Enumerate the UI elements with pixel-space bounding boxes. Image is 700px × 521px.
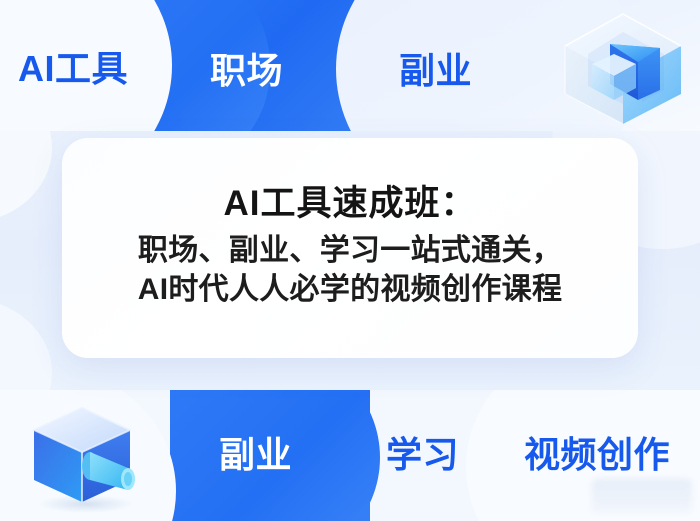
card-subtitle-line-2: AI时代人人必学的视频创作课程 [138,270,563,309]
card-subtitle-line-1: 职场、副业、学习一站式通关， [138,231,562,270]
mid-left-notch-top [0,131,52,223]
headline-card: AI工具速成班： 职场、副业、学习一站式通关， AI时代人人必学的视频创作课程 [62,138,638,358]
tag-study: 学习 [386,426,459,478]
glass-cube-icon [548,4,698,130]
blue-cube-plug-icon [20,394,148,516]
tag-side-hustle-bottom: 副业 [219,426,292,478]
card-title: AI工具速成班： [223,183,476,224]
poster-canvas: AI工具 职场 副业 副业 学习 视频创作 AI工具速成班： 职场、副业、学习一… [0,0,700,521]
tag-video-creation: 视频创作 [524,426,670,478]
mid-left-notch-bottom [0,298,52,390]
tag-workplace: 职场 [210,42,283,94]
tag-ai-tools: AI工具 [18,40,128,92]
tag-side-hustle-top: 副业 [399,42,472,94]
watermark [592,479,692,513]
